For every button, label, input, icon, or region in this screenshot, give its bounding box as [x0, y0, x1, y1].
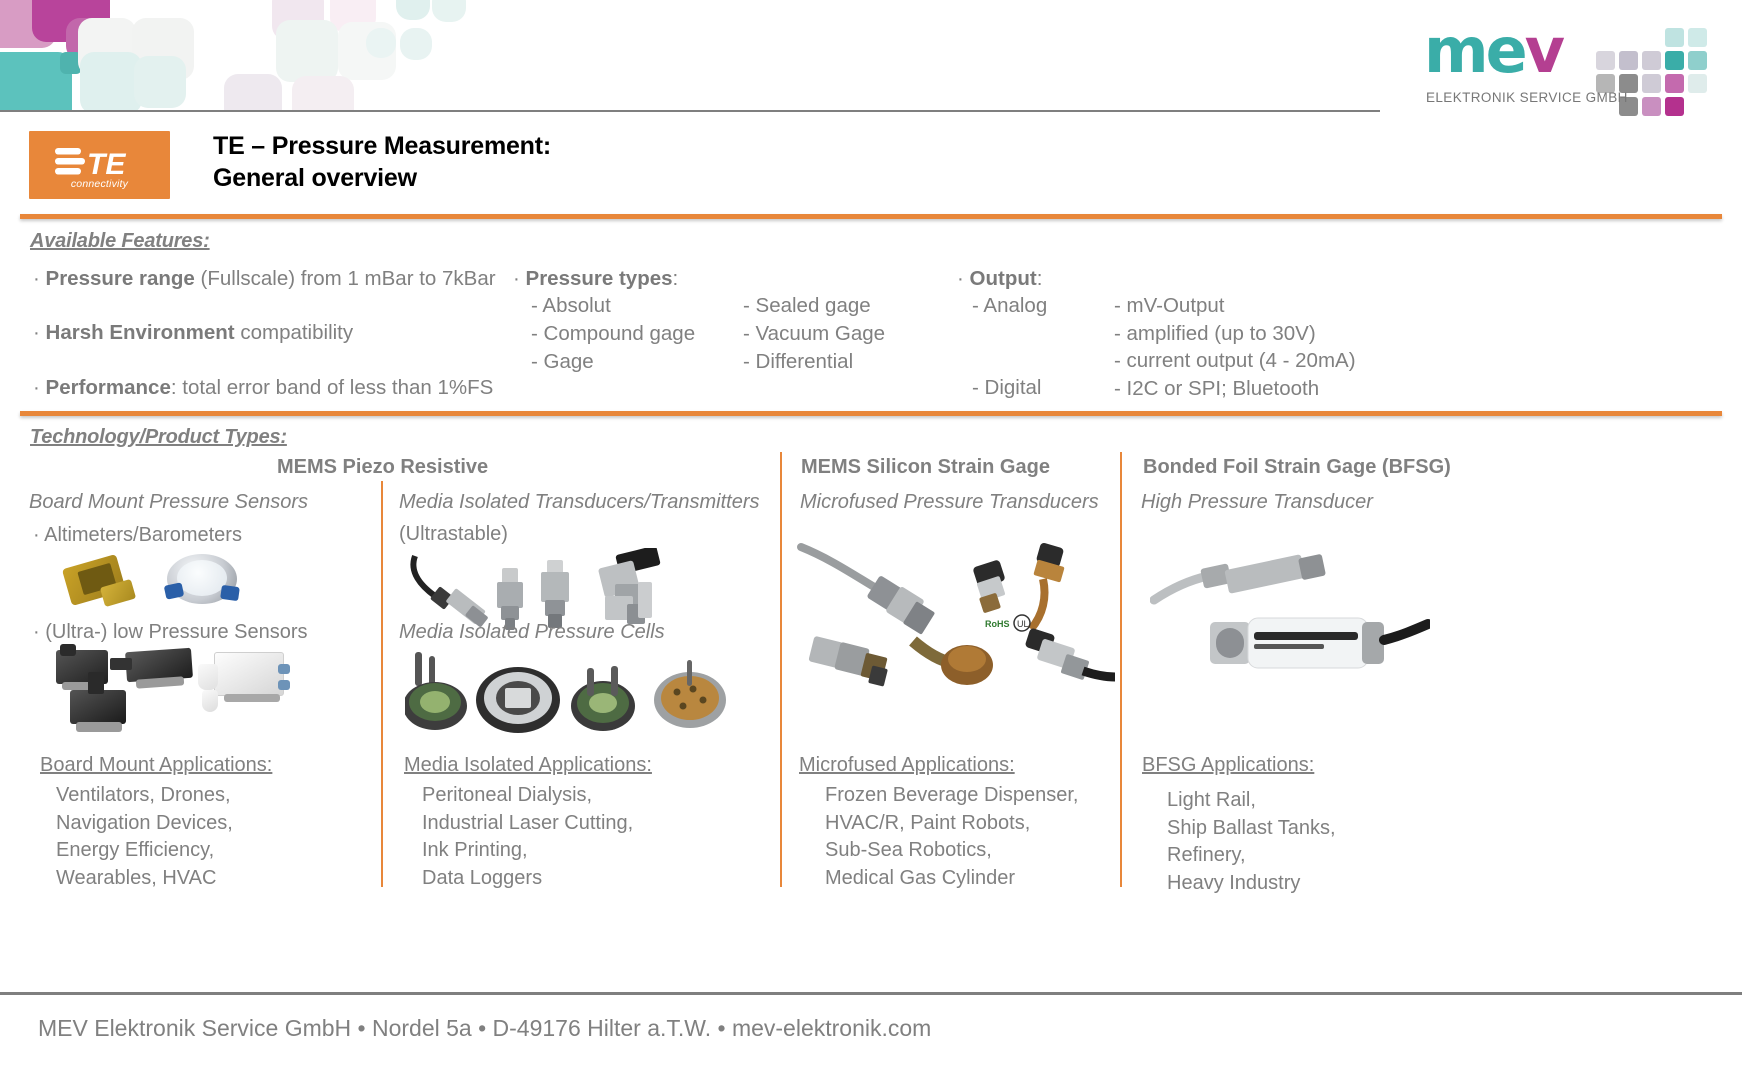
- list-item: - I2C or SPI; Bluetooth: [1114, 375, 1356, 403]
- list-item: Sub-Sea Robotics,: [825, 837, 1078, 865]
- page-title-line1: TE – Pressure Measurement:: [213, 130, 551, 162]
- technology-heading: Technology/Product Types:: [30, 426, 287, 449]
- mev-logo-subtitle: ELEKTRONIK SERVICE GMBH: [1426, 90, 1628, 105]
- te-connectivity-logo: TE connectivity: [29, 131, 170, 199]
- feature-label: Pressure range: [46, 267, 195, 290]
- list-item: Ventilators, Drones,: [56, 782, 233, 810]
- footer-divider: [0, 992, 1742, 995]
- list-item: Industrial Laser Cutting,: [422, 810, 633, 838]
- list-item: Navigation Devices,: [56, 810, 233, 838]
- output-kind-analog: - Analog: [972, 292, 1047, 320]
- banner-square: [292, 76, 354, 110]
- footer-contact-text: MEV Elektronik Service GmbH • Nordel 5a …: [38, 1015, 931, 1042]
- banner-square: [276, 20, 338, 82]
- list-item: - Vacuum Gage: [743, 320, 885, 348]
- list-item: Refinery,: [1167, 842, 1336, 870]
- column-2-line-media-isolated-cells: Media Isolated Pressure Cells: [399, 621, 665, 644]
- banner-square: [80, 52, 142, 110]
- group-title-bonded-foil-strain-gage: Bonded Foil Strain Gage (BFSG): [1143, 456, 1451, 479]
- bullet-icon: ·: [33, 321, 40, 344]
- list-item: HVAC/R, Paint Robots,: [825, 810, 1078, 838]
- feature-text: (Fullscale) from 1 mBar to 7kBar: [195, 267, 496, 290]
- list-item: - Analog: [972, 294, 1047, 317]
- svg-text:UL: UL: [1017, 619, 1029, 629]
- column-2-applications-list: Peritoneal Dialysis, Industrial Laser Cu…: [422, 782, 633, 892]
- microfused-group-svg: RoHS UL: [795, 535, 1115, 710]
- mev-logo: mev ELEKTRONIK SERVICE GMBH: [1414, 18, 1714, 110]
- bullet-icon: ·: [33, 376, 40, 399]
- list-item: - current output (4 - 20mA): [1114, 347, 1356, 375]
- pressure-types-title: Pressure types: [526, 267, 673, 290]
- column-divider-3: [1120, 452, 1122, 887]
- column-divider-1: [381, 481, 383, 887]
- list-item: Energy Efficiency,: [56, 837, 233, 865]
- product-photo-altimeter-chip: [60, 553, 140, 608]
- output-kind-digital: - Digital: [972, 374, 1042, 402]
- column-2-applications-heading: Media Isolated Applications:: [404, 754, 652, 777]
- column-1-applications-list: Ventilators, Drones, Navigation Devices,…: [56, 782, 233, 892]
- column-4-applications-list: Light Rail, Ship Ballast Tanks, Refinery…: [1167, 787, 1336, 897]
- feature-harsh-environment: · Harsh Environment compatibility: [33, 319, 353, 347]
- bullet-icon: ·: [957, 267, 964, 290]
- list-item: - Absolut: [531, 292, 695, 320]
- banner-square: [366, 28, 396, 58]
- bfsg-group-svg: [1150, 548, 1430, 683]
- product-photo-barometer-round: [163, 550, 243, 608]
- svg-text:RoHS: RoHS: [985, 619, 1010, 629]
- list-item: Ink Printing,: [422, 837, 633, 865]
- bullet-icon: ·: [33, 267, 40, 290]
- banner-square: [134, 56, 186, 108]
- banner-square: [224, 74, 282, 110]
- list-item: - Compound gage: [531, 320, 695, 348]
- column-divider-2: [780, 452, 782, 887]
- list-item: - mV-Output: [1114, 292, 1356, 320]
- column-1-line-altimeters: · Altimeters/Barometers: [33, 524, 242, 547]
- banner-square: [432, 0, 466, 22]
- list-item: Heavy Industry: [1167, 870, 1336, 898]
- output-label: · Output:: [957, 265, 1042, 293]
- section-divider-middle: [20, 411, 1722, 416]
- feature-text: : total error band of less than 1%FS: [171, 376, 493, 399]
- section-divider-top: [20, 214, 1722, 219]
- feature-label: Performance: [46, 376, 171, 399]
- list-item: Frozen Beverage Dispenser,: [825, 782, 1078, 810]
- te-logo-subtitle: connectivity: [29, 178, 170, 190]
- column-4-subtitle: High Pressure Transducer: [1141, 491, 1373, 514]
- list-item: - Differential: [743, 348, 885, 376]
- column-1-applications-heading: Board Mount Applications:: [40, 754, 272, 777]
- column-3-subtitle: Microfused Pressure Transducers: [800, 491, 1099, 514]
- list-item: Wearables, HVAC: [56, 865, 233, 893]
- feature-text: compatibility: [235, 321, 354, 344]
- feature-pressure-range: · Pressure range (Fullscale) from 1 mBar…: [33, 265, 496, 293]
- output-details-list: - mV-Output - amplified (up to 30V) - cu…: [1114, 292, 1356, 402]
- column-1-line-low-pressure: · (Ultra-) low Pressure Sensors: [33, 621, 308, 644]
- bullet-icon: ·: [513, 267, 520, 290]
- mev-logo-grid: [1619, 28, 1715, 94]
- svg-text:TE: TE: [87, 148, 126, 179]
- column-3-applications-heading: Microfused Applications:: [799, 754, 1015, 777]
- column-2-subtitle-note: (Ultrastable): [399, 523, 508, 546]
- group-title-mems-piezo-resistive: MEMS Piezo Resistive: [277, 456, 488, 479]
- banner-square: [400, 28, 432, 60]
- pressure-types-label: · Pressure types:: [513, 265, 678, 293]
- list-item: Medical Gas Cylinder: [825, 865, 1078, 893]
- list-item: - Gage: [531, 348, 695, 376]
- page-title-line2: General overview: [213, 162, 551, 194]
- feature-label: Harsh Environment: [46, 321, 235, 344]
- banner-square: [396, 0, 430, 20]
- list-item: - amplified (up to 30V): [1114, 320, 1356, 348]
- pressure-types-left-list: - Absolut - Compound gage - Gage: [531, 292, 695, 376]
- output-colon: :: [1037, 267, 1043, 290]
- list-item: Data Loggers: [422, 865, 633, 893]
- te-logo-mark: TE: [55, 145, 147, 179]
- list-item: Light Rail,: [1167, 787, 1336, 815]
- pressure-types-colon: :: [673, 267, 679, 290]
- pressure-types-right-list: - Sealed gage - Vacuum Gage - Differenti…: [743, 292, 885, 376]
- product-photo-microfused-transducers: RoHS UL: [795, 535, 1115, 710]
- available-features-heading: Available Features:: [30, 230, 210, 253]
- list-item: - Sealed gage: [743, 292, 885, 320]
- output-title: Output: [970, 267, 1037, 290]
- list-item: Peritoneal Dialysis,: [422, 782, 633, 810]
- column-4-applications-heading: BFSG Applications:: [1142, 754, 1314, 777]
- column-1-subtitle: Board Mount Pressure Sensors: [29, 491, 308, 514]
- list-item: Ship Ballast Tanks,: [1167, 815, 1336, 843]
- page-title: TE – Pressure Measurement: General overv…: [213, 130, 551, 194]
- list-item: - Digital: [972, 376, 1042, 399]
- feature-performance: · Performance: total error band of less …: [33, 374, 493, 402]
- product-photo-media-isolated-cells: [405, 648, 735, 740]
- column-2-subtitle: Media Isolated Transducers/Transmitters: [399, 491, 760, 514]
- header-divider: [0, 110, 1380, 112]
- group-title-mems-silicon-strain-gage: MEMS Silicon Strain Gage: [801, 456, 1050, 479]
- mev-wordmark: mev: [1424, 20, 1562, 82]
- column-3-applications-list: Frozen Beverage Dispenser, HVAC/R, Paint…: [825, 782, 1078, 892]
- product-photo-low-pressure-sensors: [52, 648, 292, 740]
- product-photo-high-pressure-transducer: [1150, 548, 1430, 683]
- pressure-cells-svg: [405, 648, 735, 740]
